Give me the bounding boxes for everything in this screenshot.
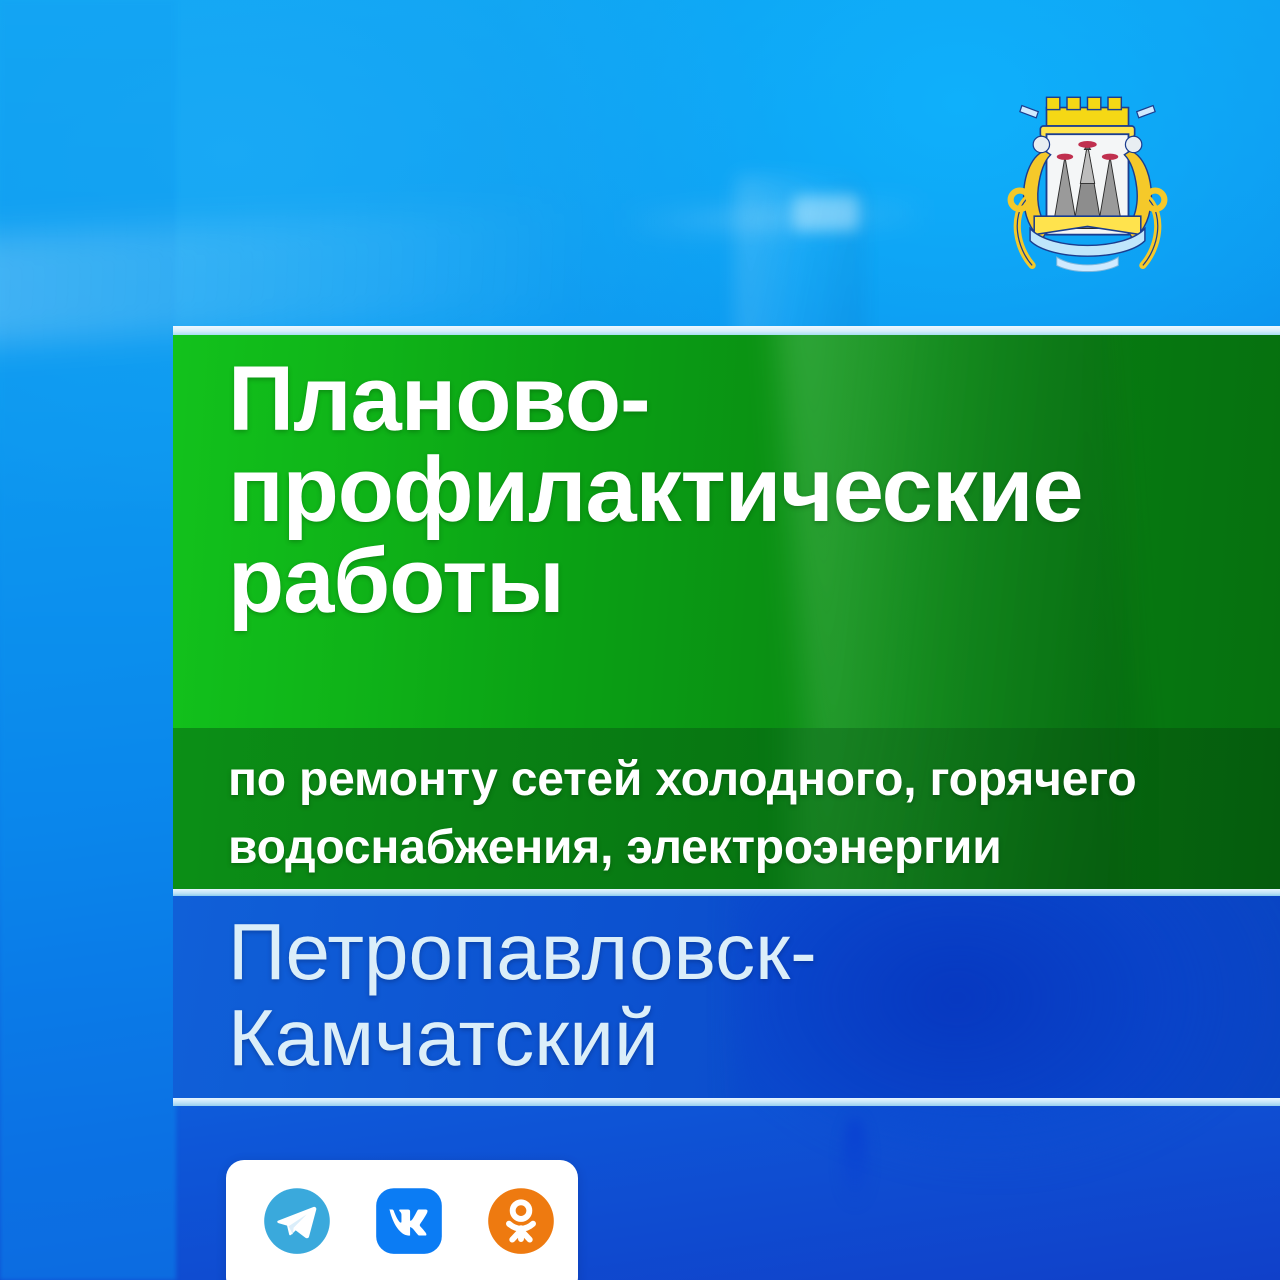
- bottom-divider: [173, 1098, 1280, 1106]
- green-panel-top-hairline: [173, 326, 1280, 335]
- city-panel-top-hairline: [173, 889, 1280, 896]
- odnoklassniki-icon[interactable]: [486, 1186, 556, 1256]
- city-name: Петропавловск- Камчатский: [228, 909, 1228, 1082]
- vk-icon[interactable]: [374, 1186, 444, 1256]
- city-name-line-1: Петропавловск-: [228, 909, 1228, 995]
- city-name-line-2: Камчатский: [228, 995, 1228, 1081]
- page-title: Планово- профилактические работы: [228, 354, 1208, 627]
- social-links-card: [226, 1160, 578, 1280]
- green-headline-panel: Планово- профилактические работы по ремо…: [173, 326, 1280, 889]
- background-water-drop: [842, 1118, 868, 1208]
- coat-of-arms-icon: [985, 85, 1190, 290]
- background-faucet-spout: [793, 195, 859, 231]
- telegram-icon[interactable]: [262, 1186, 332, 1256]
- page-subtitle-line-2: водоснабжения, электроэнергии: [228, 814, 1238, 882]
- page-title-line-1: Планово-: [228, 354, 1208, 445]
- page-title-line-2: профилактические: [228, 445, 1208, 536]
- page-title-line-3: работы: [228, 536, 1208, 627]
- city-name-panel: Петропавловск- Камчатский: [173, 889, 1280, 1105]
- page-subtitle: по ремонту сетей холодного, горячего вод…: [228, 746, 1238, 882]
- background-left-strip: [0, 0, 176, 1280]
- poster-canvas: Планово- профилактические работы по ремо…: [0, 0, 1280, 1280]
- page-subtitle-line-1: по ремонту сетей холодного, горячего: [228, 746, 1238, 814]
- social-links-row: [226, 1186, 578, 1256]
